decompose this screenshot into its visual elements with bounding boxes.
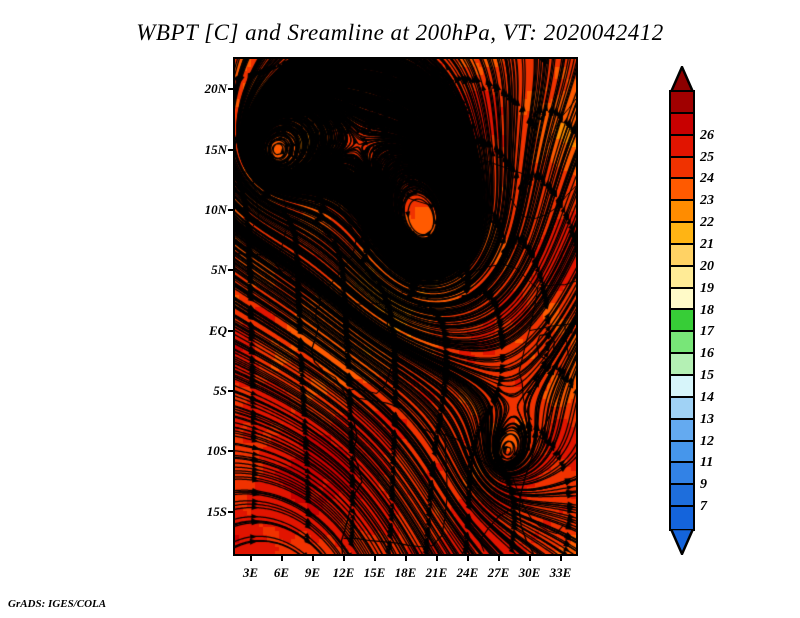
y-tick-label: EQ: [185, 323, 227, 339]
colorbar-tick-label: 15: [700, 368, 714, 384]
x-tick-label: 27E: [488, 565, 510, 581]
x-tick-label: 21E: [426, 565, 448, 581]
y-tick-label: 5N: [185, 262, 227, 278]
colorbar-tick-label: 18: [700, 303, 714, 319]
y-tick-label: 10N: [185, 202, 227, 218]
colorbar-cell: [671, 332, 693, 354]
colorbar-cell: [671, 376, 693, 398]
colorbar-tick-label: 16: [700, 346, 714, 362]
x-tick-label: 15E: [364, 565, 386, 581]
x-tick-label: 12E: [333, 565, 355, 581]
colorbar-cell: [671, 463, 693, 485]
map-plot-area: [233, 57, 578, 556]
colorbar-cell: [671, 485, 693, 507]
colorbar-cell: [671, 136, 693, 158]
x-tick-mark: [498, 556, 500, 561]
y-tick-label: 5S: [185, 383, 227, 399]
colorbar-cell: [671, 201, 693, 223]
colorbar-over-arrow-icon: [669, 66, 695, 92]
y-tick-mark: [228, 511, 233, 513]
colorbar-cell: [671, 507, 693, 529]
colorbar-tick-label: 14: [700, 390, 714, 406]
y-tick-label: 15S: [185, 504, 227, 520]
x-tick-mark: [281, 556, 283, 561]
x-tick-mark: [312, 556, 314, 561]
y-tick-label: 15N: [185, 142, 227, 158]
y-tick-mark: [228, 149, 233, 151]
x-tick-mark: [405, 556, 407, 561]
colorbar-cell: [671, 223, 693, 245]
x-tick-label: 33E: [550, 565, 572, 581]
x-tick-label: 9E: [305, 565, 320, 581]
colorbar-cell: [671, 420, 693, 442]
colorbar-cell: [671, 92, 693, 114]
y-tick-mark: [228, 269, 233, 271]
x-tick-label: 6E: [274, 565, 289, 581]
colorbar-tick-label: 12: [700, 434, 714, 450]
y-tick-label: 10S: [185, 443, 227, 459]
y-tick-mark: [228, 209, 233, 211]
colorbar-cell: [671, 158, 693, 180]
colorbar-tick-label: 7: [700, 499, 707, 515]
x-tick-mark: [374, 556, 376, 561]
colorbar-tick-label: 17: [700, 324, 714, 340]
colorbar-cell: [671, 245, 693, 267]
y-tick-mark: [228, 390, 233, 392]
colorbar-cell: [671, 442, 693, 464]
colorbar-tick-label: 24: [700, 171, 714, 187]
y-tick-mark: [228, 330, 233, 332]
y-tick-label: 20N: [185, 81, 227, 97]
x-tick-label: 30E: [519, 565, 541, 581]
x-tick-mark: [467, 556, 469, 561]
colorbar-cell: [671, 310, 693, 332]
weather-map-canvas: [235, 59, 576, 554]
colorbar-tick-label: 9: [700, 477, 707, 493]
y-tick-mark: [228, 450, 233, 452]
colorbar-tick-label: 22: [700, 215, 714, 231]
colorbar-tick-label: 20: [700, 259, 714, 275]
colorbar: [669, 66, 695, 555]
colorbar-under-arrow-icon: [669, 529, 695, 555]
colorbar-tick-label: 23: [700, 193, 714, 209]
grads-credit: GrADS: IGES/COLA: [8, 598, 106, 610]
x-tick-mark: [560, 556, 562, 561]
colorbar-cell: [671, 289, 693, 311]
x-tick-mark: [250, 556, 252, 561]
colorbar-tick-label: 11: [700, 455, 713, 471]
colorbar-tick-label: 21: [700, 237, 714, 253]
colorbar-cell: [671, 179, 693, 201]
x-tick-label: 3E: [243, 565, 258, 581]
colorbar-tick-label: 26: [700, 128, 714, 144]
colorbar-cell: [671, 114, 693, 136]
x-tick-mark: [529, 556, 531, 561]
x-tick-label: 18E: [395, 565, 417, 581]
x-tick-label: 24E: [457, 565, 479, 581]
colorbar-cell: [671, 354, 693, 376]
x-tick-mark: [436, 556, 438, 561]
y-tick-mark: [228, 88, 233, 90]
colorbar-tick-label: 19: [700, 281, 714, 297]
colorbar-cells: [669, 90, 695, 531]
colorbar-tick-label: 13: [700, 412, 714, 428]
colorbar-tick-label: 25: [700, 150, 714, 166]
page-title: WBPT [C] and Sreamline at 200hPa, VT: 20…: [0, 20, 800, 46]
colorbar-cell: [671, 267, 693, 289]
colorbar-cell: [671, 398, 693, 420]
x-tick-mark: [343, 556, 345, 561]
